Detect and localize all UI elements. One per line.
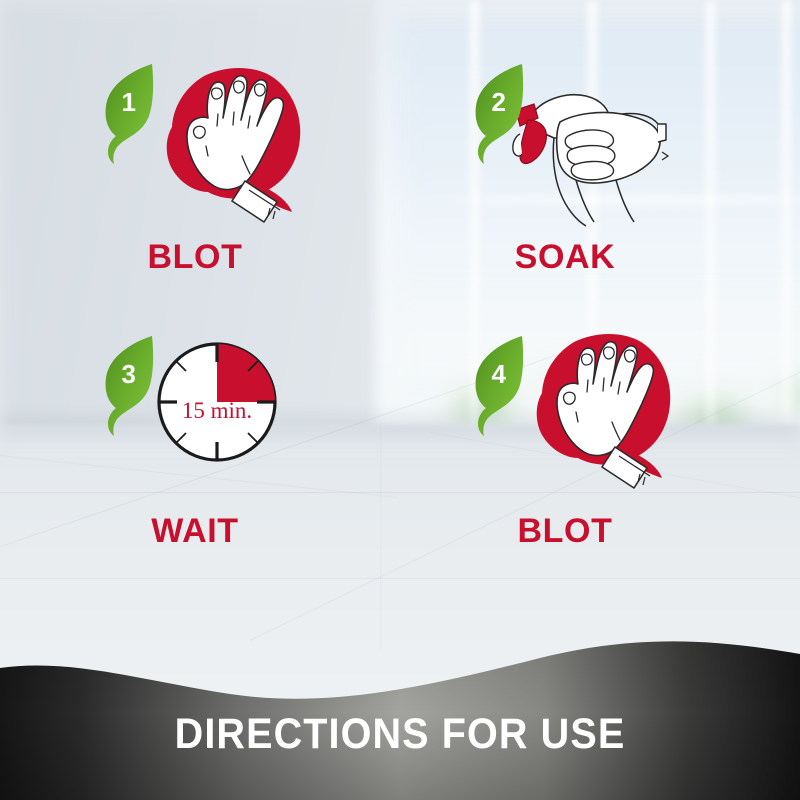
directions-banner: DIRECTIONS FOR USE	[0, 610, 800, 800]
step-4: 4	[430, 328, 770, 498]
leaf-badge-3-icon: 3	[102, 334, 156, 438]
leaf-badge-3-number: 3	[102, 361, 156, 387]
step-3-caption: WAIT	[60, 514, 330, 548]
step-1-caption: BLOT	[60, 240, 330, 274]
step-4-caption: BLOT	[430, 514, 700, 548]
timer-label: 15 min.	[182, 398, 252, 423]
step-1-artwork: 1	[60, 62, 400, 232]
directions-for-use-infographic: 1	[0, 0, 800, 800]
step-2: 2	[430, 62, 770, 232]
hand-with-red-cloth-icon	[516, 328, 692, 498]
step-2-caption: SOAK	[430, 240, 700, 274]
banner-title: DIRECTIONS FOR USE	[32, 713, 768, 756]
leaf-badge-2-icon: 2	[472, 62, 526, 166]
step-2-artwork: 2	[430, 62, 770, 232]
leaf-badge-4-icon: 4	[472, 334, 526, 438]
leaf-badge-1-icon: 1	[102, 62, 156, 166]
leaf-badge-2-number: 2	[472, 89, 526, 115]
hand-with-red-cloth-icon	[146, 62, 322, 232]
step-3: 3	[60, 328, 400, 498]
step-1: 1	[60, 62, 400, 232]
timer-dial-icon: 15 min.	[142, 332, 292, 482]
step-4-artwork: 4	[430, 328, 770, 498]
banner-wave-shape	[0, 610, 800, 800]
step-3-artwork: 3	[60, 328, 400, 498]
leaf-badge-4-number: 4	[472, 361, 526, 387]
leaf-badge-1-number: 1	[102, 89, 156, 115]
